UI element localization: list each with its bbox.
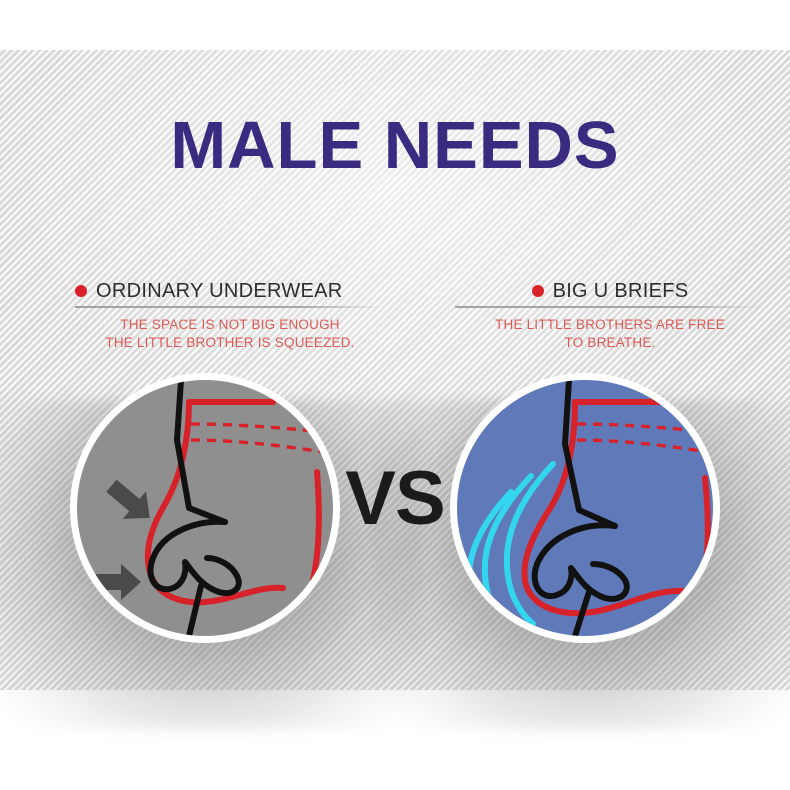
garment-outline-red: [524, 402, 707, 613]
red-dot-icon: [75, 285, 87, 297]
illustration-big-u-briefs: [450, 373, 720, 643]
heading-divider: [75, 306, 385, 308]
big-u-briefs-svg: [457, 380, 713, 636]
subtext-line-2: TO BREATHE.: [455, 334, 765, 352]
column-title-big-u: BIG U BRIEFS: [553, 280, 689, 303]
stitch-dashed-lines: [191, 424, 323, 452]
column-header-ordinary: ORDINARY UNDERWEAR THE SPACE IS NOT BIG …: [75, 279, 385, 352]
heading-row: BIG U BRIEFS: [455, 279, 765, 303]
infographic-page: MALE NEEDS ORDINARY UNDERWEAR THE SPACE …: [0, 0, 790, 790]
subtext-line-1: THE LITTLE BROTHERS ARE FREE: [455, 316, 765, 334]
circle-face-right: [457, 380, 713, 636]
page-title: MALE NEEDS: [0, 112, 790, 179]
column-subtext-ordinary: THE SPACE IS NOT BIG ENOUGH THE LITTLE B…: [75, 316, 385, 352]
heading-row: ORDINARY UNDERWEAR: [75, 279, 385, 303]
airflow-lines-icon: [469, 464, 553, 634]
heading-divider: [455, 306, 765, 308]
subtext-line-2: THE LITTLE BROTHER IS SQUEEZED.: [75, 334, 385, 352]
column-title-ordinary: ORDINARY UNDERWEAR: [96, 280, 343, 303]
red-dot-icon: [532, 285, 544, 297]
subtext-line-1: THE SPACE IS NOT BIG ENOUGH: [75, 316, 385, 334]
column-subtext-big-u: THE LITTLE BROTHERS ARE FREE TO BREATHE.: [455, 316, 765, 352]
column-header-big-u: BIG U BRIEFS THE LITTLE BROTHERS ARE FRE…: [455, 279, 765, 352]
